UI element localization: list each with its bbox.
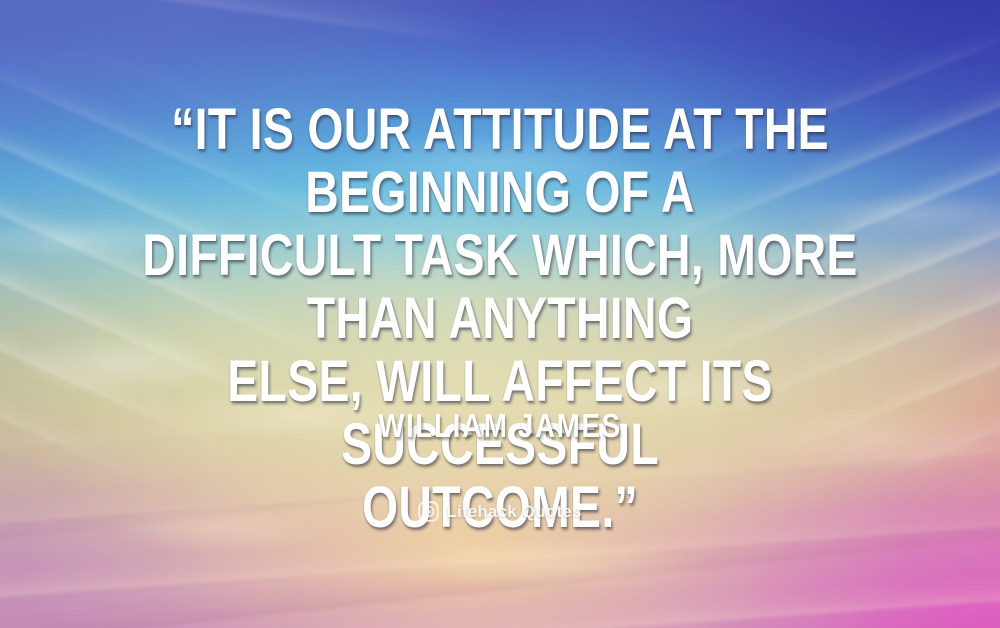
quote-author: WILLIAM JAMES [80,408,920,444]
watermark: Lifehack Quotes [0,501,1000,522]
quote-image: “IT IS OUR ATTITUDE AT THE BEGINNING OF … [0,0,1000,628]
lifehack-circle-logo-icon [418,501,439,522]
quote-text: “IT IS OUR ATTITUDE AT THE BEGINNING OF … [100,98,900,539]
quote-content: “IT IS OUR ATTITUDE AT THE BEGINNING OF … [0,0,1000,628]
watermark-label: Lifehack Quotes [446,502,581,522]
